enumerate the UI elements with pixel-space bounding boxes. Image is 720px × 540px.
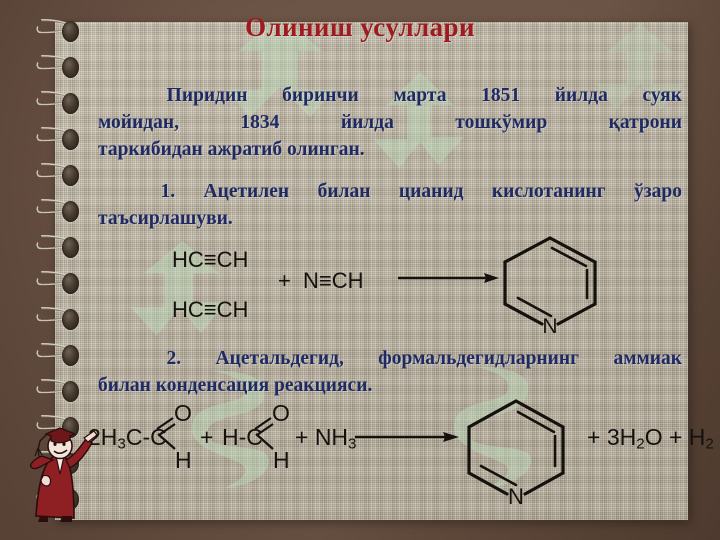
word: ўзаро	[634, 178, 682, 205]
paragraph-intro-line2: мойидан, 1834 йилда тошкўмир қатрони	[98, 109, 682, 136]
paragraph-method1-line1: 1. Ацетилен билан цианид кислотанинг ўза…	[98, 178, 682, 205]
scholar-cartoon-figure	[26, 412, 100, 530]
paragraph-indent	[98, 345, 132, 372]
word: аммиак	[613, 345, 682, 372]
word: марта	[393, 82, 446, 109]
word: 1834	[240, 109, 279, 136]
paragraph-method2: 2. Ацетальдегид, формальдегидларнинг амм…	[98, 345, 682, 399]
reaction1-acetylene-bottom: HC≡CH	[172, 297, 248, 323]
word: цианид	[399, 178, 464, 205]
reaction1-pyridine-ring: N	[496, 232, 604, 336]
acetaldehyde-bond-lines	[155, 415, 181, 459]
reaction2-pyridine-ring: N	[460, 395, 572, 507]
word: Ацетальдегид,	[216, 345, 344, 372]
ammonia-formula-text: + NH3	[295, 424, 357, 450]
word: формальдегидларнинг	[378, 345, 579, 372]
word: Пиридин	[167, 82, 248, 109]
paragraph-intro-line1: Пиридин биринчи марта 1851 йилда суяк	[98, 82, 682, 109]
paragraph-intro: Пиридин биринчи марта 1851 йилда суяк мо…	[98, 82, 682, 163]
word: тошкўмир	[455, 109, 547, 136]
word: 2.	[166, 345, 181, 372]
word: биринчи	[282, 82, 359, 109]
paragraph-method1: 1. Ацетилен билан цианид кислотанинг ўза…	[98, 178, 682, 232]
paragraph-intro-line3: таркибидан ажратиб олинган.	[98, 136, 682, 163]
word: қатрони	[609, 109, 682, 136]
word: билан	[318, 178, 371, 205]
reaction2-products: + 3H2O + H2	[587, 424, 714, 452]
word: йилда	[341, 109, 394, 136]
reaction2-nitrogen-label: N	[508, 484, 524, 507]
reaction1-acetylene-top: HC≡CH	[172, 247, 248, 273]
paragraph-indent	[98, 82, 132, 109]
reaction1-plus: +	[278, 268, 291, 294]
reaction2-arrow-icon	[355, 427, 460, 447]
reaction2-ammonia: + NH3	[295, 424, 357, 452]
word: кислотанинг	[492, 178, 606, 205]
paragraph-method1-line2: таъсирлашуви.	[98, 205, 682, 232]
word: Ацетилен	[204, 178, 290, 205]
paragraph-method2-line1: 2. Ацетальдегид, формальдегидларнинг амм…	[98, 345, 682, 372]
word: 1851	[481, 82, 520, 109]
reaction2-plus-1: +	[200, 424, 213, 451]
word: суяк	[643, 82, 682, 109]
slide-title: Олиниш усуллари	[0, 12, 720, 43]
slide-background: Олиниш усуллари Пиридин биринчи марта 18…	[0, 0, 720, 540]
word: 1.	[160, 178, 175, 205]
paragraph-method2-line2: билан конденсация реакцияси.	[98, 372, 682, 399]
products-formula-text: + 3H2O + H2	[587, 424, 714, 450]
word: йилда	[555, 82, 608, 109]
reaction1-hydrogen-cyanide: N≡CH	[303, 268, 364, 294]
word: мойидан,	[98, 109, 179, 136]
formaldehyde-bond-lines	[253, 415, 279, 459]
paragraph-indent	[98, 178, 132, 205]
reaction1-arrow-icon	[398, 268, 500, 288]
reaction1-nitrogen-label: N	[542, 315, 557, 336]
